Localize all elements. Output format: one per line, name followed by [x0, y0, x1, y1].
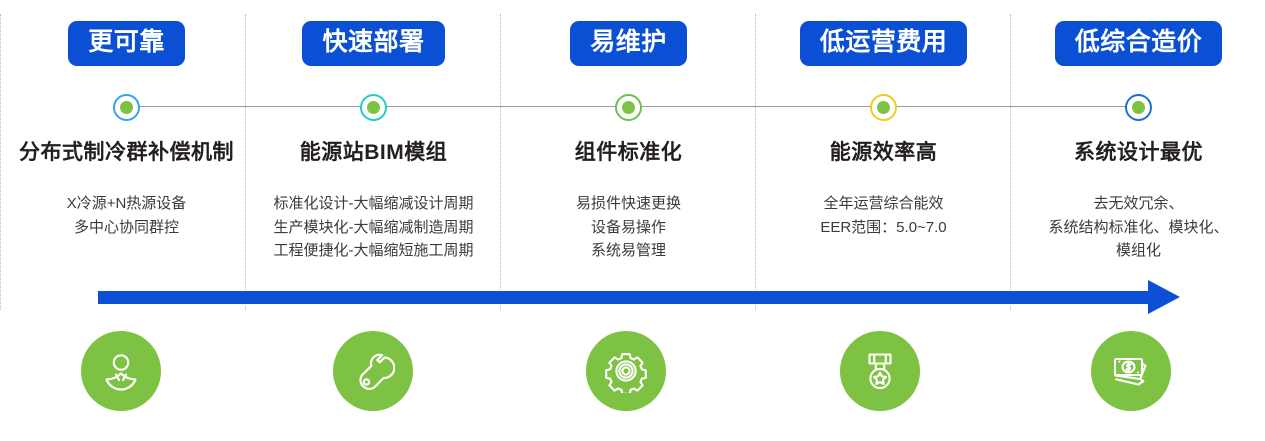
column-line: X冷源+N热源设备	[0, 192, 253, 216]
column-title-1: 分布式制冷群补偿机制	[0, 136, 253, 166]
column-1: 更可靠 分布式制冷群补偿机制 X冷源+N热源设备 多中心协同群控	[0, 0, 253, 300]
column-line: EER范围：5.0~7.0	[757, 216, 1010, 240]
column-divider-2	[500, 14, 501, 310]
column-line: 全年运营综合能效	[757, 192, 1010, 216]
icon-circle-4	[840, 331, 920, 411]
pill-badge-4[interactable]: 低运营费用	[800, 21, 968, 66]
column-line: 工程便捷化-大幅缩短施工周期	[247, 239, 500, 263]
infographic-root: 更可靠 分布式制冷群补偿机制 X冷源+N热源设备 多中心协同群控 快速部署 能源…	[0, 0, 1265, 441]
timeline-dot-3	[615, 94, 642, 121]
column-lines-3: 易损件快速更换 设备易操作 系统易管理	[502, 192, 755, 263]
pill-badge-1[interactable]: 更可靠	[68, 21, 185, 66]
timeline-dot-1	[113, 94, 140, 121]
icon-circle-3	[586, 331, 666, 411]
medal-star-icon	[858, 349, 902, 393]
icon-circle-5	[1091, 331, 1171, 411]
column-title-4: 能源效率高	[757, 136, 1010, 166]
icon-circle-1	[81, 331, 161, 411]
column-lines-2: 标准化设计-大幅缩减设计周期 生产模块化-大幅缩减制造周期 工程便捷化-大幅缩短…	[247, 192, 500, 263]
timeline-dot-wrap-4	[757, 92, 1010, 122]
user-person-icon	[99, 349, 143, 393]
timeline-dot-wrap-5	[1012, 92, 1265, 122]
column-3: 易维护 组件标准化 易损件快速更换 设备易操作 系统易管理	[502, 0, 755, 300]
column-lines-4: 全年运营综合能效 EER范围：5.0~7.0	[757, 192, 1010, 239]
pill-badge-3[interactable]: 易维护	[570, 21, 687, 66]
column-divider-4	[1010, 14, 1011, 310]
column-line: 标准化设计-大幅缩减设计周期	[247, 192, 500, 216]
column-line: 易损件快速更换	[502, 192, 755, 216]
column-line: 去无效冗余、	[1012, 192, 1265, 216]
icon-circle-2	[333, 331, 413, 411]
column-title-5: 系统设计最优	[1012, 136, 1265, 166]
column-line: 系统易管理	[502, 239, 755, 263]
column-title-3: 组件标准化	[502, 136, 755, 166]
column-title-2: 能源站BIM模组	[247, 136, 500, 166]
timeline-dot-wrap-2	[247, 92, 500, 122]
progress-arrow-bar	[98, 291, 1152, 304]
column-line: 多中心协同群控	[0, 216, 253, 240]
progress-arrow-head	[1148, 280, 1180, 314]
column-line: 系统结构标准化、模块化、	[1012, 216, 1265, 240]
pill-badge-5[interactable]: 低综合造价	[1055, 21, 1223, 66]
column-2: 快速部署 能源站BIM模组 标准化设计-大幅缩减设计周期 生产模块化-大幅缩减制…	[247, 0, 500, 300]
gear-icon	[604, 349, 648, 393]
column-4: 低运营费用 能源效率高 全年运营综合能效 EER范围：5.0~7.0	[757, 0, 1010, 300]
timeline-dot-wrap-3	[502, 92, 755, 122]
money-banknotes-icon	[1109, 349, 1153, 393]
pill-badge-2[interactable]: 快速部署	[302, 21, 444, 66]
column-lines-5: 去无效冗余、 系统结构标准化、模块化、 模组化	[1012, 192, 1265, 263]
timeline-dot-2	[360, 94, 387, 121]
timeline-dot-5	[1125, 94, 1152, 121]
column-5: 低综合造价 系统设计最优 去无效冗余、 系统结构标准化、模块化、 模组化	[1012, 0, 1265, 300]
column-line: 设备易操作	[502, 216, 755, 240]
column-line: 生产模块化-大幅缩减制造周期	[247, 216, 500, 240]
column-divider-3b	[755, 14, 756, 310]
wrench-icon	[351, 349, 395, 393]
column-lines-1: X冷源+N热源设备 多中心协同群控	[0, 192, 253, 239]
column-line: 模组化	[1012, 239, 1265, 263]
timeline-dot-4	[870, 94, 897, 121]
timeline-dot-wrap-1	[0, 92, 253, 122]
